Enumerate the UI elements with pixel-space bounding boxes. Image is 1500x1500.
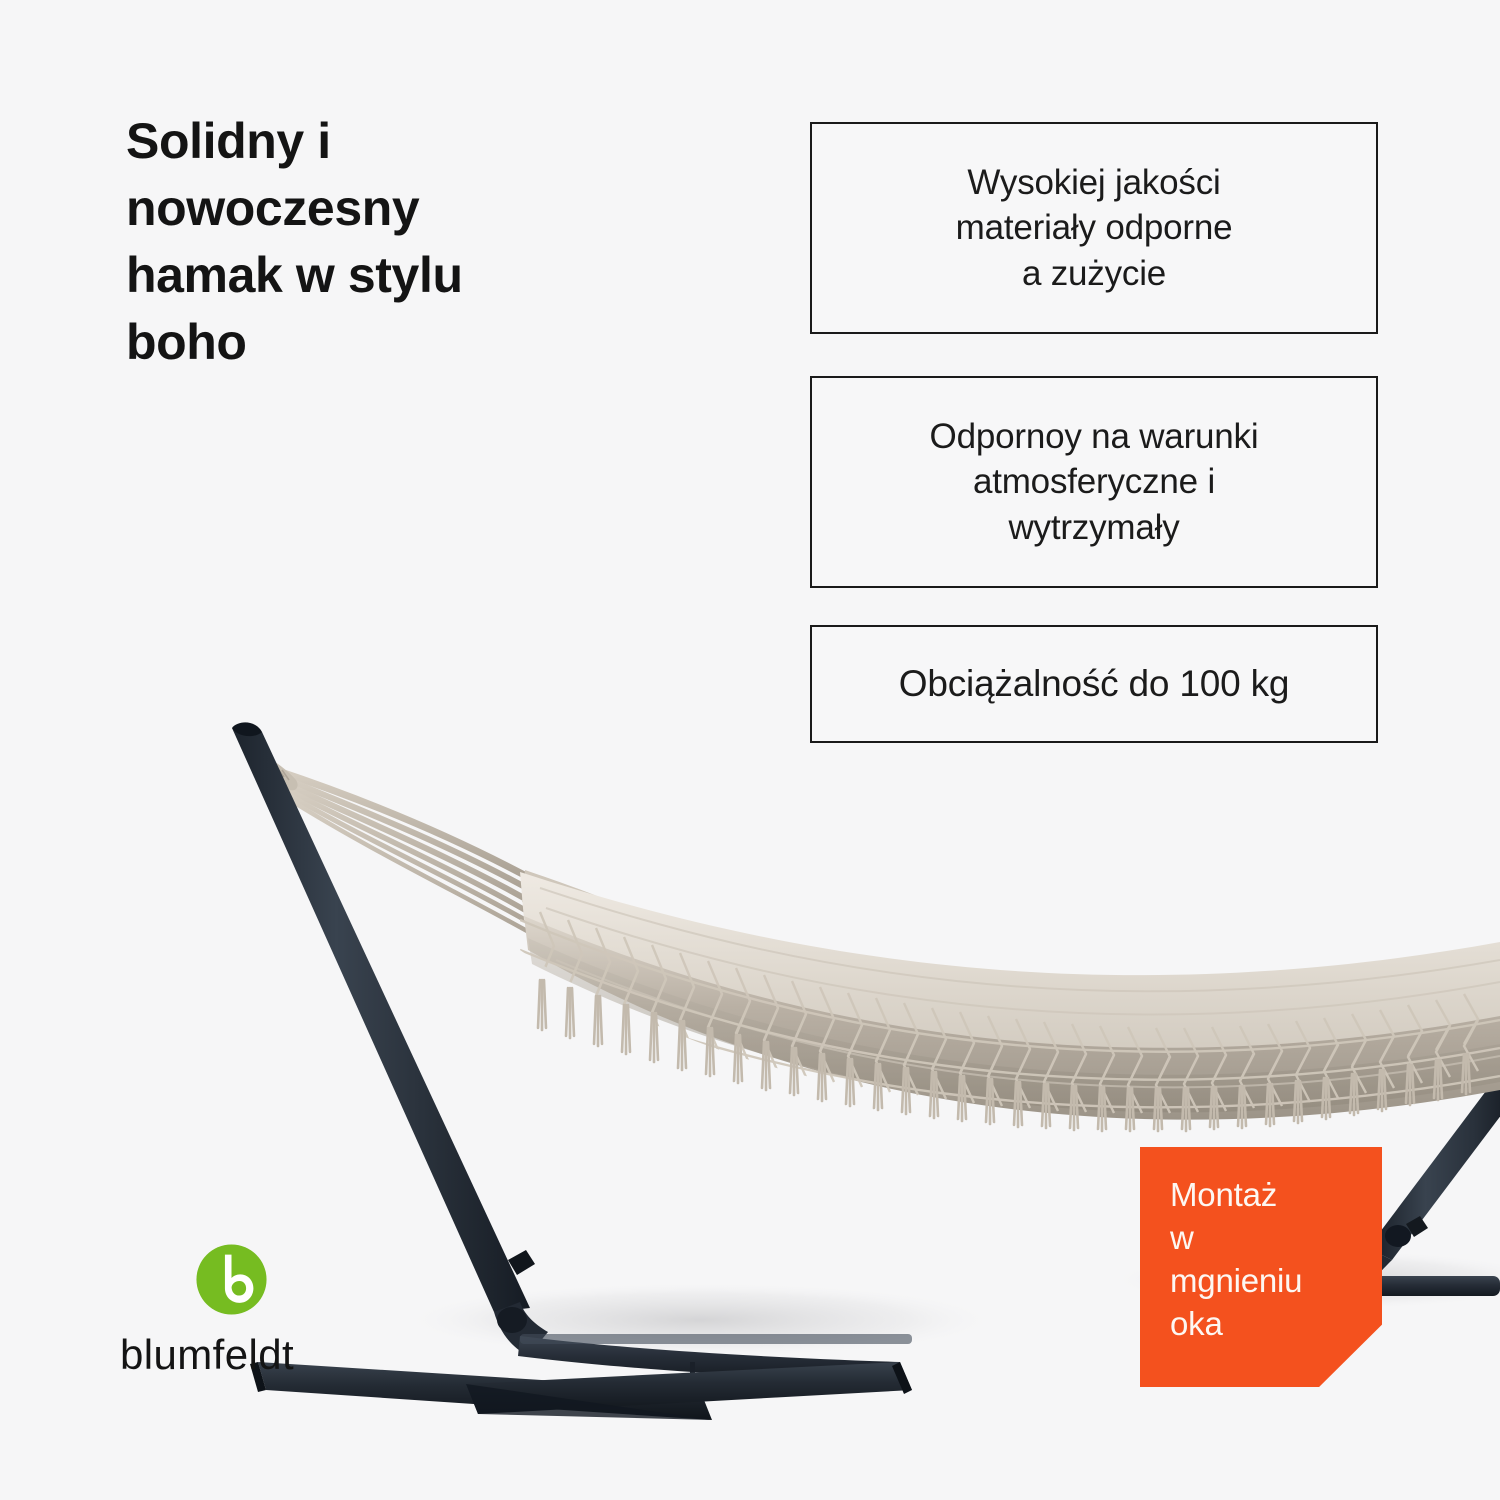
feature-text-weather: Odpornoy na warunki atmosferyczne i wytr…	[916, 414, 1273, 551]
hammock-fabric-top	[520, 872, 1500, 1051]
quick-assembly-badge: Montaż w mgnieniu oka	[1140, 1147, 1382, 1387]
page-title: Solidny i nowoczesny hamak w stylu boho	[126, 108, 686, 376]
hammock	[246, 750, 1500, 1131]
feature-text-quality: Wysokiej jakości materiały odporne a zuż…	[942, 160, 1247, 297]
blumfeldt-b-leaf-icon	[195, 1243, 268, 1316]
quick-assembly-badge-text: Montaż w mgnieniu oka	[1170, 1174, 1370, 1346]
feature-box-weather: Odpornoy na warunki atmosferyczne i wytr…	[810, 376, 1378, 588]
feature-box-quality: Wysokiej jakości materiały odporne a zuż…	[810, 122, 1378, 334]
poster-canvas: Solidny i nowoczesny hamak w stylu boho …	[0, 0, 1500, 1500]
brand-logo: blumfeldt	[120, 1243, 410, 1403]
brand-wordmark: blumfeldt	[120, 1331, 410, 1379]
